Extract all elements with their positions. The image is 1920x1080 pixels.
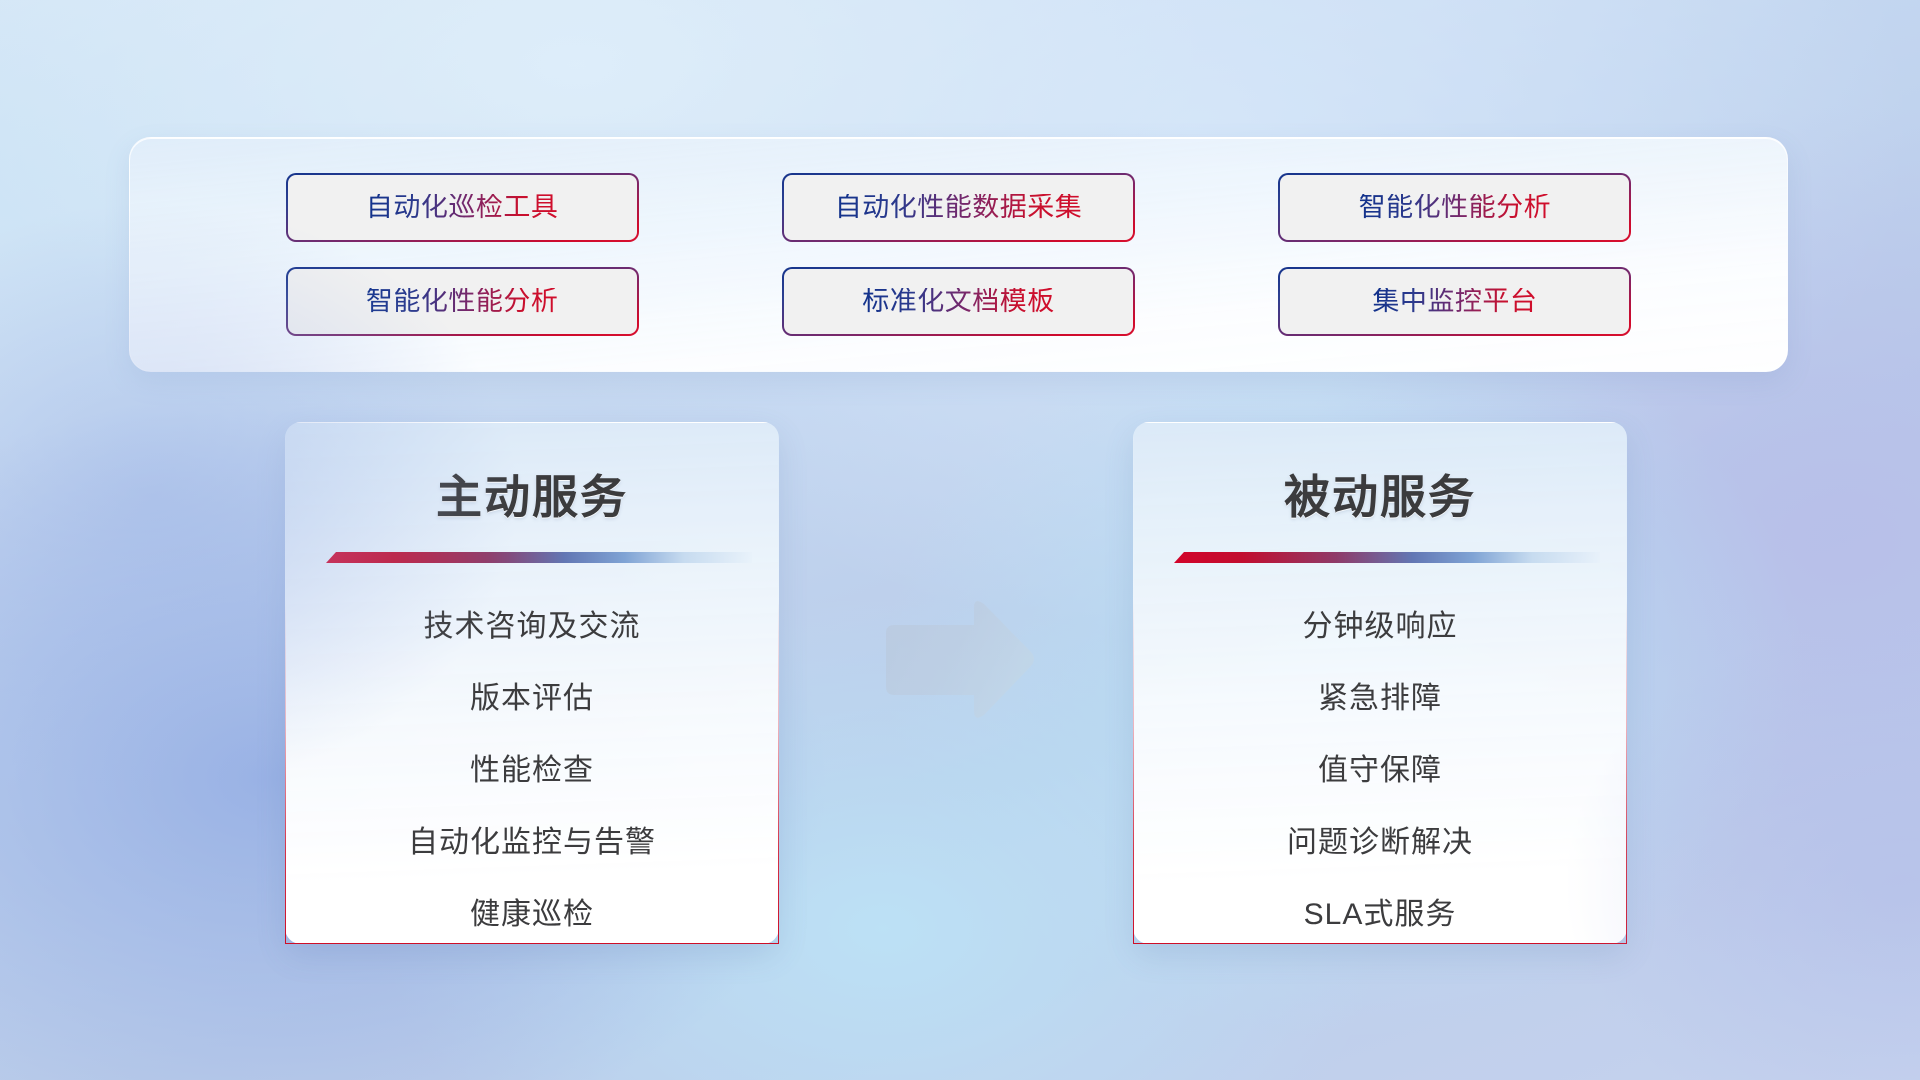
list-item: 健康巡检 <box>286 879 778 944</box>
list-item: 分钟级响应 <box>1134 591 1626 663</box>
arrow-right-icon <box>878 597 1038 725</box>
list-item: 版本评估 <box>286 663 778 735</box>
card-divider <box>326 549 750 567</box>
tool-pill-intelligent-performance-analysis-2[interactable]: 智能化性能分析 <box>286 267 639 336</box>
list-item: SLA式服务 <box>1134 879 1626 944</box>
card-title: 被动服务 <box>1134 461 1626 527</box>
tool-pill-label: 自动化性能数据采集 <box>835 194 1083 221</box>
card-divider <box>1174 549 1598 567</box>
service-item-list: 分钟级响应 紧急排障 值守保障 问题诊断解决 SLA式服务 <box>1134 591 1626 944</box>
service-card-reactive[interactable]: 被动服务 分钟级响应 紧急排障 值守保障 问题诊断解决 SLA式服务 <box>1133 422 1627 944</box>
list-item: 自动化监控与告警 <box>286 807 778 879</box>
list-item: 技术咨询及交流 <box>286 591 778 663</box>
list-item: 问题诊断解决 <box>1134 807 1626 879</box>
tool-pill-central-monitoring-platform[interactable]: 集中监控平台 <box>1278 267 1631 336</box>
capability-tools-panel: 自动化巡检工具 自动化性能数据采集 智能化性能分析 智能化性能分析 标准化文档模… <box>129 137 1788 372</box>
service-card-proactive[interactable]: 主动服务 技术咨询及交流 版本评估 性能检查 自动化监控与告警 健康巡检 <box>285 422 779 944</box>
tool-pill-intelligent-performance-analysis[interactable]: 智能化性能分析 <box>1278 173 1631 242</box>
tool-pill-standard-doc-template[interactable]: 标准化文档模板 <box>782 267 1135 336</box>
list-item: 值守保障 <box>1134 735 1626 807</box>
tool-pill-label: 集中监控平台 <box>1372 288 1537 315</box>
tool-pill-label: 智能化性能分析 <box>1359 194 1552 221</box>
tool-pill-label: 智能化性能分析 <box>366 288 559 315</box>
divider-bar <box>326 552 752 563</box>
list-item: 紧急排障 <box>1134 663 1626 735</box>
tool-pill-label: 标准化文档模板 <box>862 288 1055 315</box>
card-title: 主动服务 <box>286 461 778 527</box>
tool-pill-performance-data-collection[interactable]: 自动化性能数据采集 <box>782 173 1135 242</box>
slide-canvas: 自动化巡检工具 自动化性能数据采集 智能化性能分析 智能化性能分析 标准化文档模… <box>0 0 1920 1080</box>
service-item-list: 技术咨询及交流 版本评估 性能检查 自动化监控与告警 健康巡检 <box>286 591 778 944</box>
divider-bar <box>1174 552 1600 563</box>
tool-pill-label: 自动化巡检工具 <box>366 194 559 221</box>
list-item: 性能检查 <box>286 735 778 807</box>
tool-pill-automation-inspection[interactable]: 自动化巡检工具 <box>286 173 639 242</box>
